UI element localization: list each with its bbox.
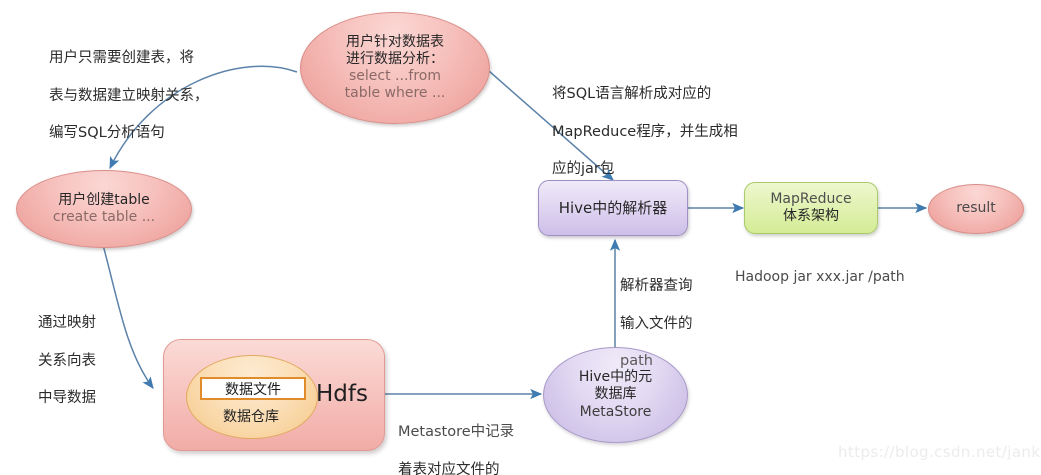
label-create-table-note-line-2: 表与数据建立映射关系， <box>49 87 209 106</box>
node-user-query-line-2: 进行数据分析： <box>346 51 444 68</box>
node-mapreduce[interactable]: MapReduce 体系架构 <box>744 182 878 234</box>
label-parser-query-note-line-2: 输入文件的 <box>620 315 693 334</box>
node-result-label: result <box>956 200 996 217</box>
label-parser-query-note: 解析器查询 输入文件的 path <box>620 258 693 390</box>
label-sql-to-mapreduce-note-line-1: 将SQL语言解析成对应的 <box>552 85 738 104</box>
node-user-query[interactable]: 用户针对数据表 进行数据分析： select ...from table whe… <box>300 12 490 124</box>
label-metastore-note-line-2: 着表对应文件的 <box>398 461 514 475</box>
label-hadoop-command: Hadoop jar xxx.jar /path <box>735 250 905 305</box>
node-user-query-line-4: table where ... <box>345 85 446 102</box>
label-parser-query-note-line-1: 解析器查询 <box>620 277 693 296</box>
node-user-query-line-3: select ...from <box>349 68 441 85</box>
node-data-warehouse-label: 数据仓库 <box>186 406 316 426</box>
label-create-table-note-line-1: 用户只需要创建表，将 <box>49 49 209 68</box>
node-data-file[interactable]: 数据文件 <box>200 377 306 400</box>
node-mapreduce-line-2: 体系架构 <box>783 208 839 225</box>
node-result[interactable]: result <box>928 184 1024 234</box>
label-mapping-note-line-3: 中导数据 <box>38 389 96 408</box>
label-mapping-note: 通过映射 关系向表 中导数据 <box>38 295 96 427</box>
node-hdfs-title: Hdfs <box>316 381 368 407</box>
node-hive-parser-label: Hive中的解析器 <box>559 199 668 217</box>
label-sql-to-mapreduce-note-line-2: MapReduce程序，并生成相 <box>552 123 738 142</box>
node-mapreduce-line-1: MapReduce <box>770 191 851 208</box>
label-metastore-note-line-1: Metastore中记录 <box>398 423 514 442</box>
node-data-file-label: 数据文件 <box>225 379 281 399</box>
label-hadoop-command-text: Hadoop jar xxx.jar /path <box>735 268 905 286</box>
node-user-create-table[interactable]: 用户创建table create table ... <box>16 170 192 248</box>
label-create-table-note: 用户只需要创建表，将 表与数据建立映射关系， 编写SQL分析语句 <box>49 30 209 162</box>
node-user-create-table-line-1: 用户创建table <box>58 192 149 209</box>
edge-createtable-to-hdfs <box>103 245 153 388</box>
label-metastore-note: Metastore中记录 着表对应文件的 path <box>398 404 514 475</box>
watermark: https://blog.csdn.net/jankin6 <box>838 443 1041 461</box>
node-metastore-line-3: MetaStore <box>580 404 652 421</box>
diagram-canvas: 用户针对数据表 进行数据分析： select ...from table whe… <box>0 0 1041 475</box>
node-hdfs[interactable]: 数据文件 数据仓库 Hdfs <box>163 339 385 451</box>
label-create-table-note-line-3: 编写SQL分析语句 <box>49 124 209 143</box>
node-user-create-table-line-2: create table ... <box>53 209 155 226</box>
label-sql-to-mapreduce-note: 将SQL语言解析成对应的 MapReduce程序，并生成相 应的jar包 <box>552 66 738 198</box>
node-user-query-line-1: 用户针对数据表 <box>346 34 444 51</box>
label-mapping-note-line-2: 关系向表 <box>38 352 96 371</box>
label-mapping-note-line-1: 通过映射 <box>38 314 96 333</box>
label-parser-query-note-line-3: path <box>620 352 693 371</box>
label-sql-to-mapreduce-note-line-3: 应的jar包 <box>552 160 738 179</box>
